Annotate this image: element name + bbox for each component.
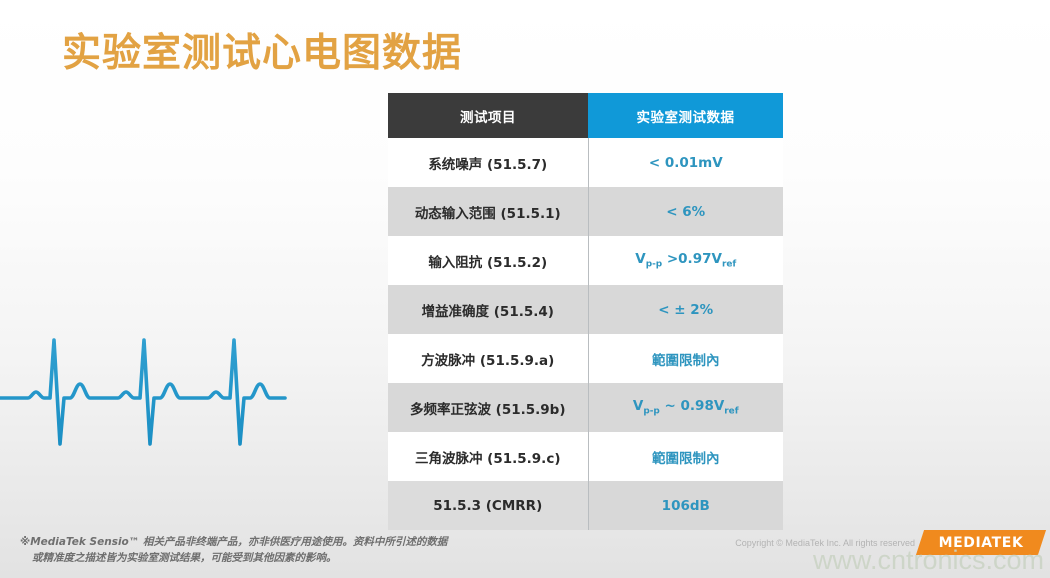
cell-test-value: < ± 2% bbox=[588, 285, 783, 334]
cell-value-formatted: Vp-p ~ 0.98Vref bbox=[633, 398, 739, 414]
cell-test-item: 多频率正弦波 (51.5.9b) bbox=[388, 383, 588, 432]
cell-test-item: 动态输入范围 (51.5.1) bbox=[388, 187, 588, 236]
ecg-waveform bbox=[0, 318, 300, 468]
cell-test-value: < 0.01mV bbox=[588, 138, 783, 187]
table-row: 51.5.3 (CMRR) 106dB bbox=[388, 481, 783, 530]
cell-test-value: 範圍限制內 bbox=[588, 334, 783, 383]
table-row: 输入阻抗 (51.5.2) Vp-p >0.97Vref bbox=[388, 236, 783, 285]
table-header-row: 测试项目 实验室测试数据 bbox=[388, 93, 783, 138]
cell-test-value: 106dB bbox=[588, 481, 783, 530]
cell-test-value: 範圍限制內 bbox=[588, 432, 783, 481]
table-row: 系统噪声 (51.5.7) < 0.01mV bbox=[388, 138, 783, 187]
lab-test-table: 测试项目 实验室测试数据 系统噪声 (51.5.7) < 0.01mV 动态输入… bbox=[388, 93, 783, 530]
column-header-value: 实验室测试数据 bbox=[588, 93, 783, 138]
footer-disclaimer-line2: 或精准度之描述皆为实验室测试结果，可能受到其他因素的影响。 bbox=[20, 550, 540, 566]
table-row: 三角波脉冲 (51.5.9.c) 範圍限制內 bbox=[388, 432, 783, 481]
slide-root: 实验室测试心电图数据 测试项目 实验室测试数据 bbox=[0, 0, 1050, 578]
column-header-item: 测试项目 bbox=[388, 93, 588, 138]
lab-test-table-container: 测试项目 实验室测试数据 系统噪声 (51.5.7) < 0.01mV 动态输入… bbox=[388, 93, 783, 530]
cell-test-item: 输入阻抗 (51.5.2) bbox=[388, 236, 588, 285]
ecg-waveform-svg bbox=[0, 318, 300, 468]
table-row: 动态输入范围 (51.5.1) < 6% bbox=[388, 187, 783, 236]
cell-test-item: 系统噪声 (51.5.7) bbox=[388, 138, 588, 187]
table-row: 方波脉冲 (51.5.9.a) 範圍限制內 bbox=[388, 334, 783, 383]
table-body: 系统噪声 (51.5.7) < 0.01mV 动态输入范围 (51.5.1) <… bbox=[388, 138, 783, 530]
footer-disclaimer: ※MediaTek Sensio™ 相关产品非终端产品，亦非供医疗用途使用。资料… bbox=[20, 534, 540, 567]
cell-value-formatted: Vp-p >0.97Vref bbox=[635, 251, 736, 267]
table-row: 增益准确度 (51.5.4) < ± 2% bbox=[388, 285, 783, 334]
table-header: 测试项目 实验室测试数据 bbox=[388, 93, 783, 138]
cell-test-value: Vp-p >0.97Vref bbox=[588, 236, 783, 285]
site-watermark: www.cntronics.com bbox=[813, 545, 1044, 576]
cell-test-item: 51.5.3 (CMRR) bbox=[388, 481, 588, 530]
cell-test-item: 增益准确度 (51.5.4) bbox=[388, 285, 588, 334]
cell-test-value: < 6% bbox=[588, 187, 783, 236]
page-title: 实验室测试心电图数据 bbox=[62, 22, 462, 78]
cell-test-item: 方波脉冲 (51.5.9.a) bbox=[388, 334, 588, 383]
table-row: 多频率正弦波 (51.5.9b) Vp-p ~ 0.98Vref bbox=[388, 383, 783, 432]
cell-test-item: 三角波脉冲 (51.5.9.c) bbox=[388, 432, 588, 481]
footer-disclaimer-line1: ※MediaTek Sensio™ 相关产品非终端产品，亦非供医疗用途使用。资料… bbox=[20, 536, 447, 548]
cell-test-value: Vp-p ~ 0.98Vref bbox=[588, 383, 783, 432]
